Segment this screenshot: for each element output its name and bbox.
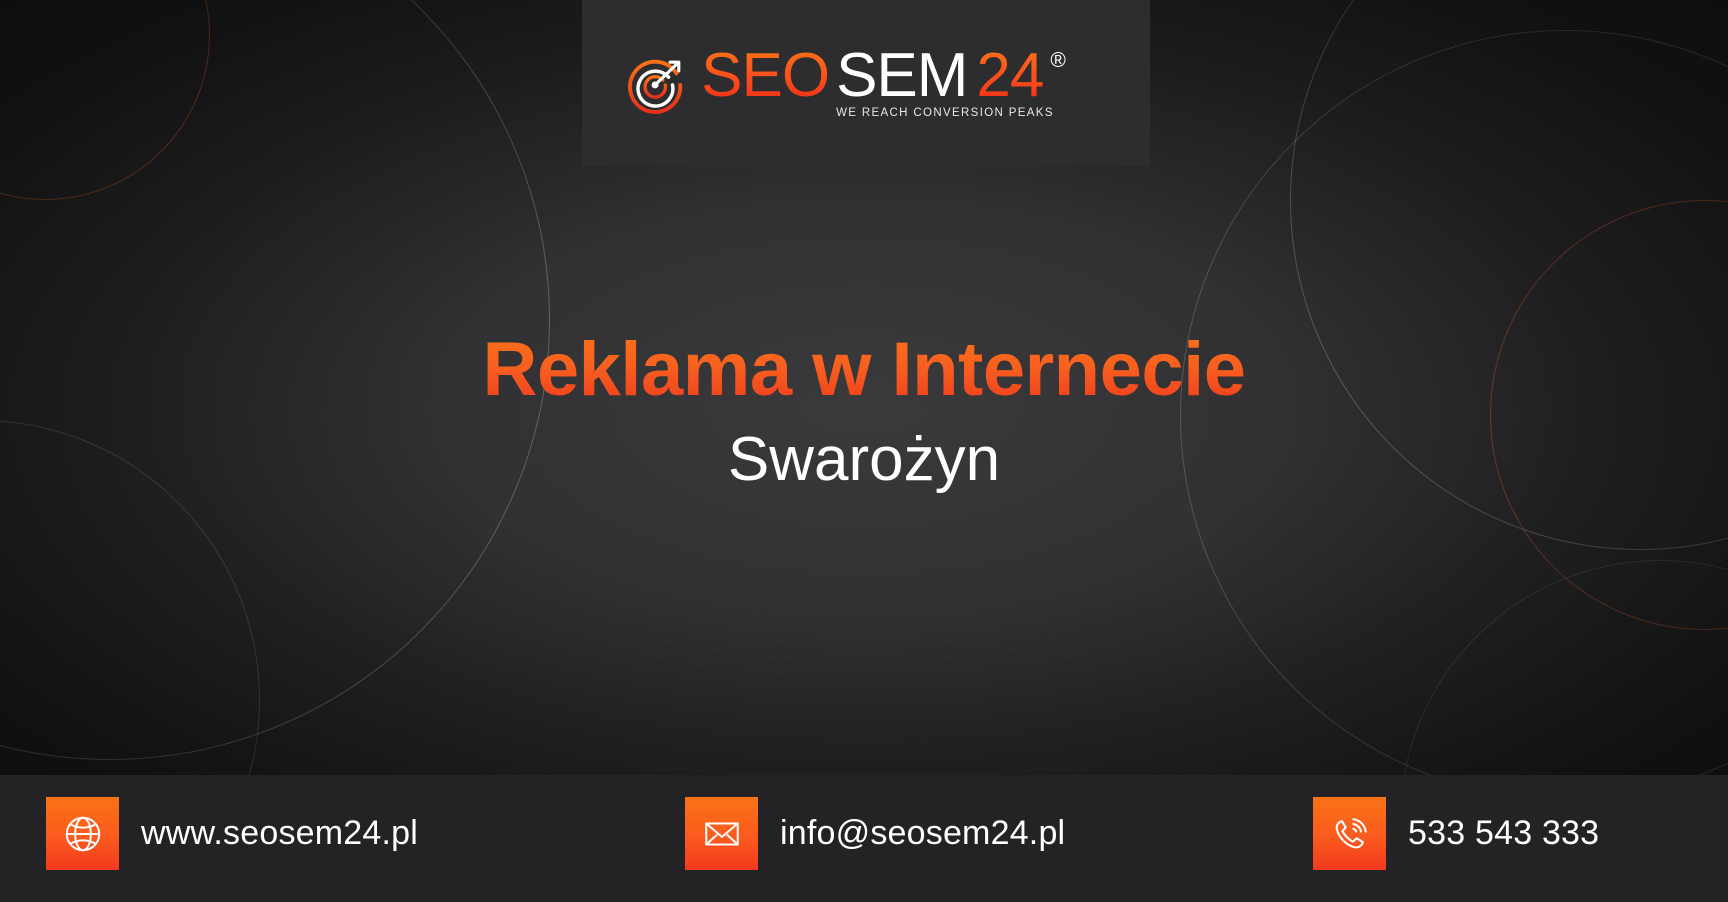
envelope-icon [685,797,758,870]
page-subtitle: Swarożyn [0,426,1728,494]
logo-word-sem: SEM [836,47,967,106]
contact-bar: www.seosem24.pl info@seosem24.pl [0,775,1728,902]
promo-banner: SEO SEM 24 ® WE REACH CONVERSION PEAKS R… [0,0,1728,902]
hero-text-block: Reklama w Internecie Swarożyn [0,330,1728,494]
contact-item-phone[interactable]: 533 543 333 [1313,797,1599,870]
brand-logo: SEO SEM 24 ® WE REACH CONVERSION PEAKS [626,47,1106,119]
logo-sem-row: SEM 24 ® [836,47,1106,106]
logo-word-24: 24 [976,47,1043,106]
logo-right-block: SEM 24 ® WE REACH CONVERSION PEAKS [836,47,1106,119]
logo-word-seo: SEO [701,47,829,106]
contact-item-website[interactable]: www.seosem24.pl [46,797,418,870]
logo-panel: SEO SEM 24 ® WE REACH CONVERSION PEAKS [582,0,1150,166]
email-text: info@seosem24.pl [780,814,1065,853]
phone-ringing-icon [1313,797,1386,870]
page-title: Reklama w Internecie [482,330,1245,410]
globe-icon [46,797,119,870]
website-text: www.seosem24.pl [141,814,418,853]
target-arrow-icon [626,52,688,114]
logo-wordmark: SEO SEM 24 ® WE REACH CONVERSION PEAKS [701,47,1106,119]
decorative-circle-orange-left [0,0,210,200]
logo-tagline: WE REACH CONVERSION PEAKS [836,107,1106,119]
contact-item-email[interactable]: info@seosem24.pl [685,797,1065,870]
phone-text: 533 543 333 [1408,814,1599,853]
registered-trademark-icon: ® [1050,51,1065,71]
